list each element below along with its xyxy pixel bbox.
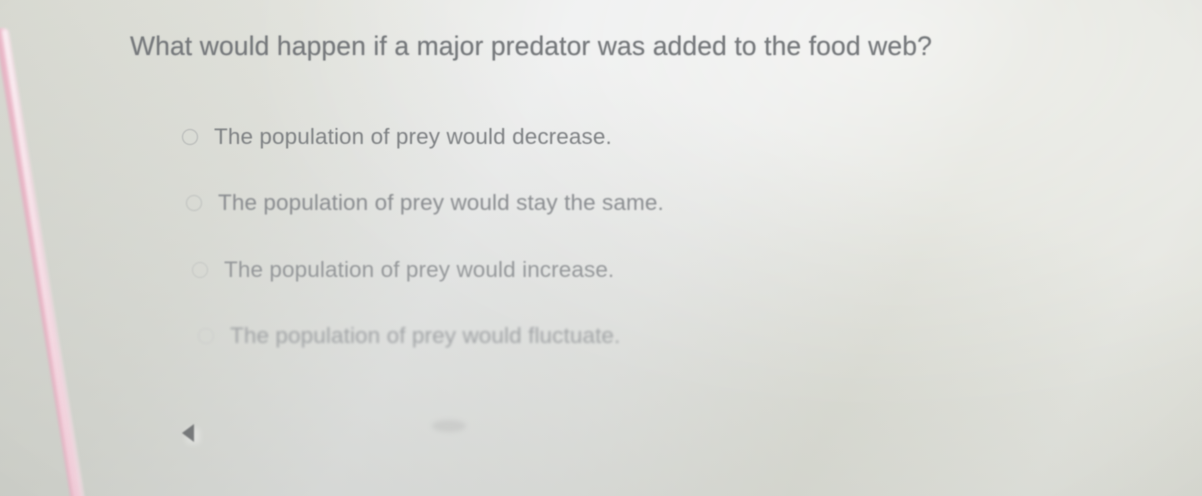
answer-option-3[interactable]: The population of prey would fluctuate. bbox=[198, 323, 620, 349]
answer-option-2[interactable]: The population of prey would increase. bbox=[192, 257, 614, 283]
radio-button-icon[interactable] bbox=[192, 262, 208, 278]
answer-option-label: The population of prey would stay the sa… bbox=[218, 190, 664, 216]
answer-option-label: The population of prey would increase. bbox=[224, 257, 614, 283]
page-title: What would happen if a major predator wa… bbox=[130, 31, 932, 62]
back-triangle-icon[interactable] bbox=[182, 424, 194, 442]
answer-option-label: The population of prey would decrease. bbox=[214, 124, 612, 150]
screen-photo: What would happen if a major predator wa… bbox=[0, 0, 1202, 496]
screen-smudge-artifact bbox=[432, 420, 466, 432]
radio-button-icon[interactable] bbox=[186, 195, 202, 211]
answer-option-0[interactable]: The population of prey would decrease. bbox=[182, 124, 612, 150]
radio-button-icon[interactable] bbox=[198, 328, 214, 344]
quiz-content: What would happen if a major predator wa… bbox=[0, 0, 1202, 496]
answer-option-label: The population of prey would fluctuate. bbox=[230, 323, 620, 349]
radio-button-icon[interactable] bbox=[182, 129, 198, 145]
answer-option-1[interactable]: The population of prey would stay the sa… bbox=[186, 190, 664, 216]
